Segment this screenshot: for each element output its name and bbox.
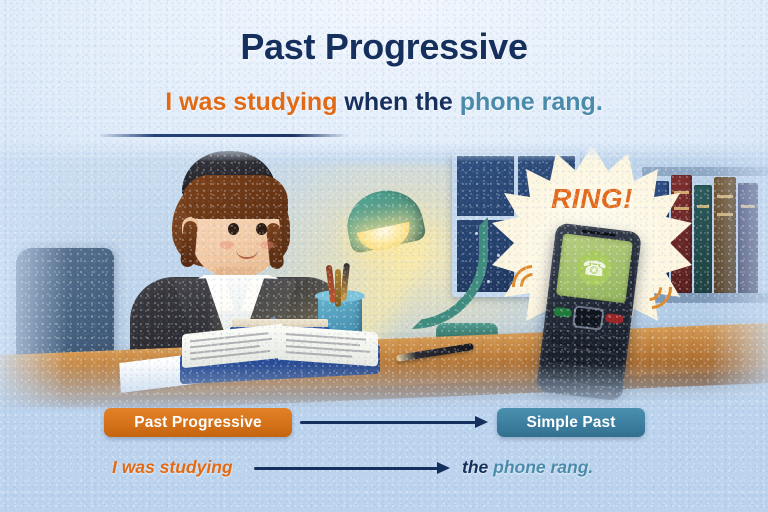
arrow-shaft [300, 421, 476, 424]
shelf-book [738, 183, 758, 293]
illustration-panel: RING! ☎ [0, 143, 768, 411]
page-title: Past Progressive [0, 26, 768, 68]
sentence-part-simple-past: phone rang. [460, 88, 603, 116]
diagram-arrow-row1 [300, 421, 488, 424]
pen-in-cup [335, 269, 341, 307]
open-book [180, 329, 380, 381]
example-article: the [462, 457, 493, 477]
phone-key-9[interactable] [595, 368, 616, 383]
phone-key-hash[interactable] [593, 385, 614, 398]
diagram-arrow-row2 [254, 467, 450, 470]
label-simple-past[interactable]: Simple Past [497, 408, 645, 437]
cheek-left [220, 241, 234, 249]
phone-key-7[interactable] [547, 362, 568, 377]
phone-key-3[interactable] [599, 335, 620, 350]
arrow-head-icon [437, 462, 450, 474]
example-sentence: I was studying when the phone rang. [0, 88, 768, 117]
poster-canvas: Past Progressive I was studying when the… [0, 0, 768, 512]
phone-key-4[interactable] [549, 346, 570, 361]
eye-right [256, 223, 267, 235]
grammar-diagram: Past Progressive Simple Past I was study… [0, 408, 768, 512]
hair-bangs [182, 175, 288, 219]
example-simple-past: the phone rang. [462, 457, 593, 478]
arrow-shaft [254, 467, 438, 470]
sentence-part-past-progressive: I was studying [165, 88, 337, 116]
shelf-book [694, 185, 712, 293]
phone-key-5[interactable] [573, 348, 594, 363]
book-page-right [278, 326, 378, 367]
phone-key-1[interactable] [551, 329, 572, 344]
phone-key-0[interactable] [569, 382, 590, 395]
header-section: Past Progressive I was studying when the… [0, 0, 768, 146]
phone-screen: ☎ [556, 233, 633, 303]
sentence-part-connector: when the [337, 88, 459, 116]
phone-key-star[interactable] [545, 379, 566, 392]
shelf-book [714, 177, 736, 293]
phone-key-6[interactable] [597, 351, 618, 366]
cheek-right [260, 241, 274, 249]
arrow-head-icon [475, 416, 488, 428]
desk-lamp [352, 183, 502, 353]
eye-left [228, 223, 239, 235]
phone-call-key[interactable] [553, 307, 572, 318]
ring-sound-text: RING! [492, 183, 692, 215]
example-clause: phone rang. [493, 457, 593, 477]
phone-end-key[interactable] [605, 313, 624, 324]
phone-key-2[interactable] [575, 332, 596, 347]
phone-key-8[interactable] [571, 365, 592, 380]
example-past-progressive: I was studying [112, 457, 233, 478]
incoming-call-icon: ☎ [575, 249, 613, 287]
header-divider [100, 134, 348, 137]
phone-navpad[interactable] [572, 305, 604, 330]
label-past-progressive[interactable]: Past Progressive [104, 408, 292, 437]
